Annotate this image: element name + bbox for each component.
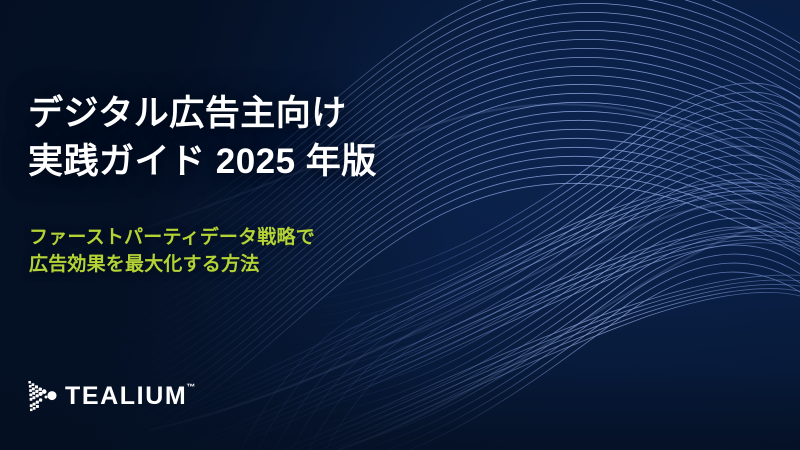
cover-content: デジタル広告主向け 実践ガイド 2025 年版 ファーストパーティデータ戦略で …	[28, 0, 498, 450]
page-title: デジタル広告主向け 実践ガイド 2025 年版	[28, 90, 498, 186]
cover-slide: デジタル広告主向け 実践ガイド 2025 年版 ファーストパーティデータ戦略で …	[0, 0, 800, 450]
subtitle-line-1: ファーストパーティデータ戦略で	[29, 224, 499, 251]
page-subtitle: ファーストパーティデータ戦略で 広告効果を最大化する方法	[29, 224, 499, 278]
wordmark-text: TEALIUM	[65, 382, 187, 410]
tealium-wordmark: TEALIUM ™	[65, 384, 187, 409]
trademark-icon: ™	[186, 383, 195, 392]
title-line-2: 実践ガイド 2025 年版	[28, 138, 498, 186]
tealium-logo: TEALIUM ™	[28, 378, 187, 414]
tealium-dot-diamond-mark	[28, 380, 58, 412]
subtitle-line-2: 広告効果を最大化する方法	[29, 251, 499, 278]
title-line-1: デジタル広告主向け	[28, 90, 498, 138]
